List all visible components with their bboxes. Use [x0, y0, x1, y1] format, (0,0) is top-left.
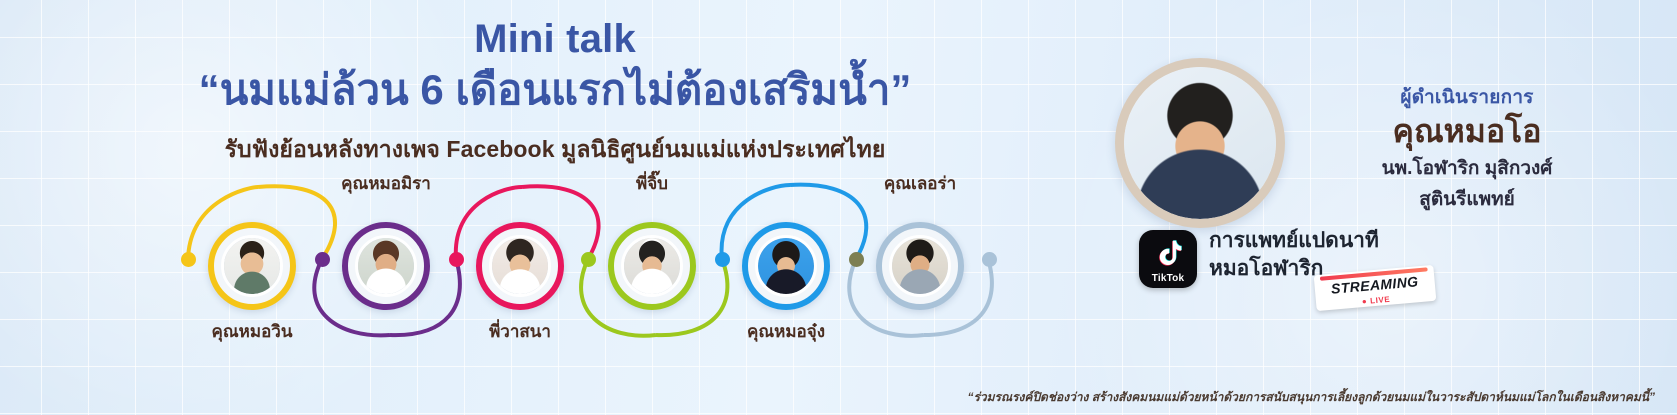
tiktok-wordmark: TikTok [1139, 273, 1197, 284]
speaker-timeline: วิทยากร [0, 175, 1060, 350]
timeline-dot-7 [982, 252, 997, 267]
channel-row: TikTok การแพทย์แปดนาที หมอโอฬาริก STREAM… [1139, 228, 1659, 298]
footer-caption: “ร่วมรณรงค์ปิดช่องว่าง สร้างสังคมนมแม่ด้… [967, 390, 1655, 405]
host-nickname: คุณหมอโอ [1287, 114, 1647, 150]
host-details: ผู้ดำเนินรายการ คุณหมอโอ นพ.โอฬาริก มุสิ… [1287, 82, 1647, 214]
speaker-photo-3 [492, 238, 548, 294]
speaker-name-4: พี่จิ๊บ [582, 170, 722, 197]
streaming-badge: STREAMING ● LIVE [1314, 265, 1437, 311]
speaker-name-3: พี่วาสนา [450, 318, 590, 345]
timeline-dot-3 [449, 252, 464, 267]
speaker-name-5: คุณหมอจุ๋ง [716, 318, 856, 345]
host-block: ผู้ดำเนินรายการ คุณหมอโอ นพ.โอฬาริก มุสิ… [1097, 0, 1677, 415]
speaker-photo-2 [358, 238, 414, 294]
breastfeeding-mini-talk-banner: Mini talk “นมแม่ล้วน 6 เดือนแรกไม่ต้องเส… [0, 0, 1677, 415]
timeline-dot-2 [315, 252, 330, 267]
host-avatar[interactable] [1115, 58, 1285, 228]
timeline-dot-1 [181, 252, 196, 267]
speaker-avatar-2[interactable] [342, 222, 430, 310]
headline-thai-title: “นมแม่ล้วน 6 เดือนแรกไม่ต้องเสริมน้ำ” [0, 64, 1110, 115]
speaker-avatar-4[interactable] [608, 222, 696, 310]
speaker-photo-1 [224, 238, 280, 294]
speaker-name-1: คุณหมอวิน [182, 318, 322, 345]
host-photo [1124, 67, 1276, 219]
headline-mini-talk: Mini talk [0, 18, 1110, 60]
speaker-name-6: คุณเลอร่า [850, 170, 990, 197]
tiktok-icon[interactable]: TikTok [1139, 230, 1197, 288]
speaker-photo-5 [758, 238, 814, 294]
speaker-photo-6 [892, 238, 948, 294]
host-full-name: นพ.โอฬาริก มุสิกวงศ์ [1287, 153, 1647, 183]
speaker-name-2: คุณหมอมิรา [316, 170, 456, 197]
speaker-photo-4 [624, 238, 680, 294]
host-specialty: สูตินรีแพทย์ [1287, 184, 1647, 214]
timeline-dot-4 [581, 252, 596, 267]
headline-block: Mini talk “นมแม่ล้วน 6 เดือนแรกไม่ต้องเส… [0, 18, 1110, 168]
channel-name-line2: หมอโอฬาริก [1209, 256, 1323, 282]
speaker-avatar-5[interactable] [742, 222, 830, 310]
timeline-dot-6 [849, 252, 864, 267]
speaker-avatar-6[interactable] [876, 222, 964, 310]
timeline-dot-5 [715, 252, 730, 267]
speaker-avatar-1[interactable] [208, 222, 296, 310]
channel-name-line1: การแพทย์แปดนาที [1209, 228, 1379, 254]
headline-subtitle: รับฟังย้อนหลังทางเพจ Facebook มูลนิธิศูน… [0, 132, 1110, 168]
host-role-label: ผู้ดำเนินรายการ [1287, 82, 1647, 112]
tiktok-note-glyph [1152, 237, 1186, 271]
speaker-avatar-3[interactable] [476, 222, 564, 310]
